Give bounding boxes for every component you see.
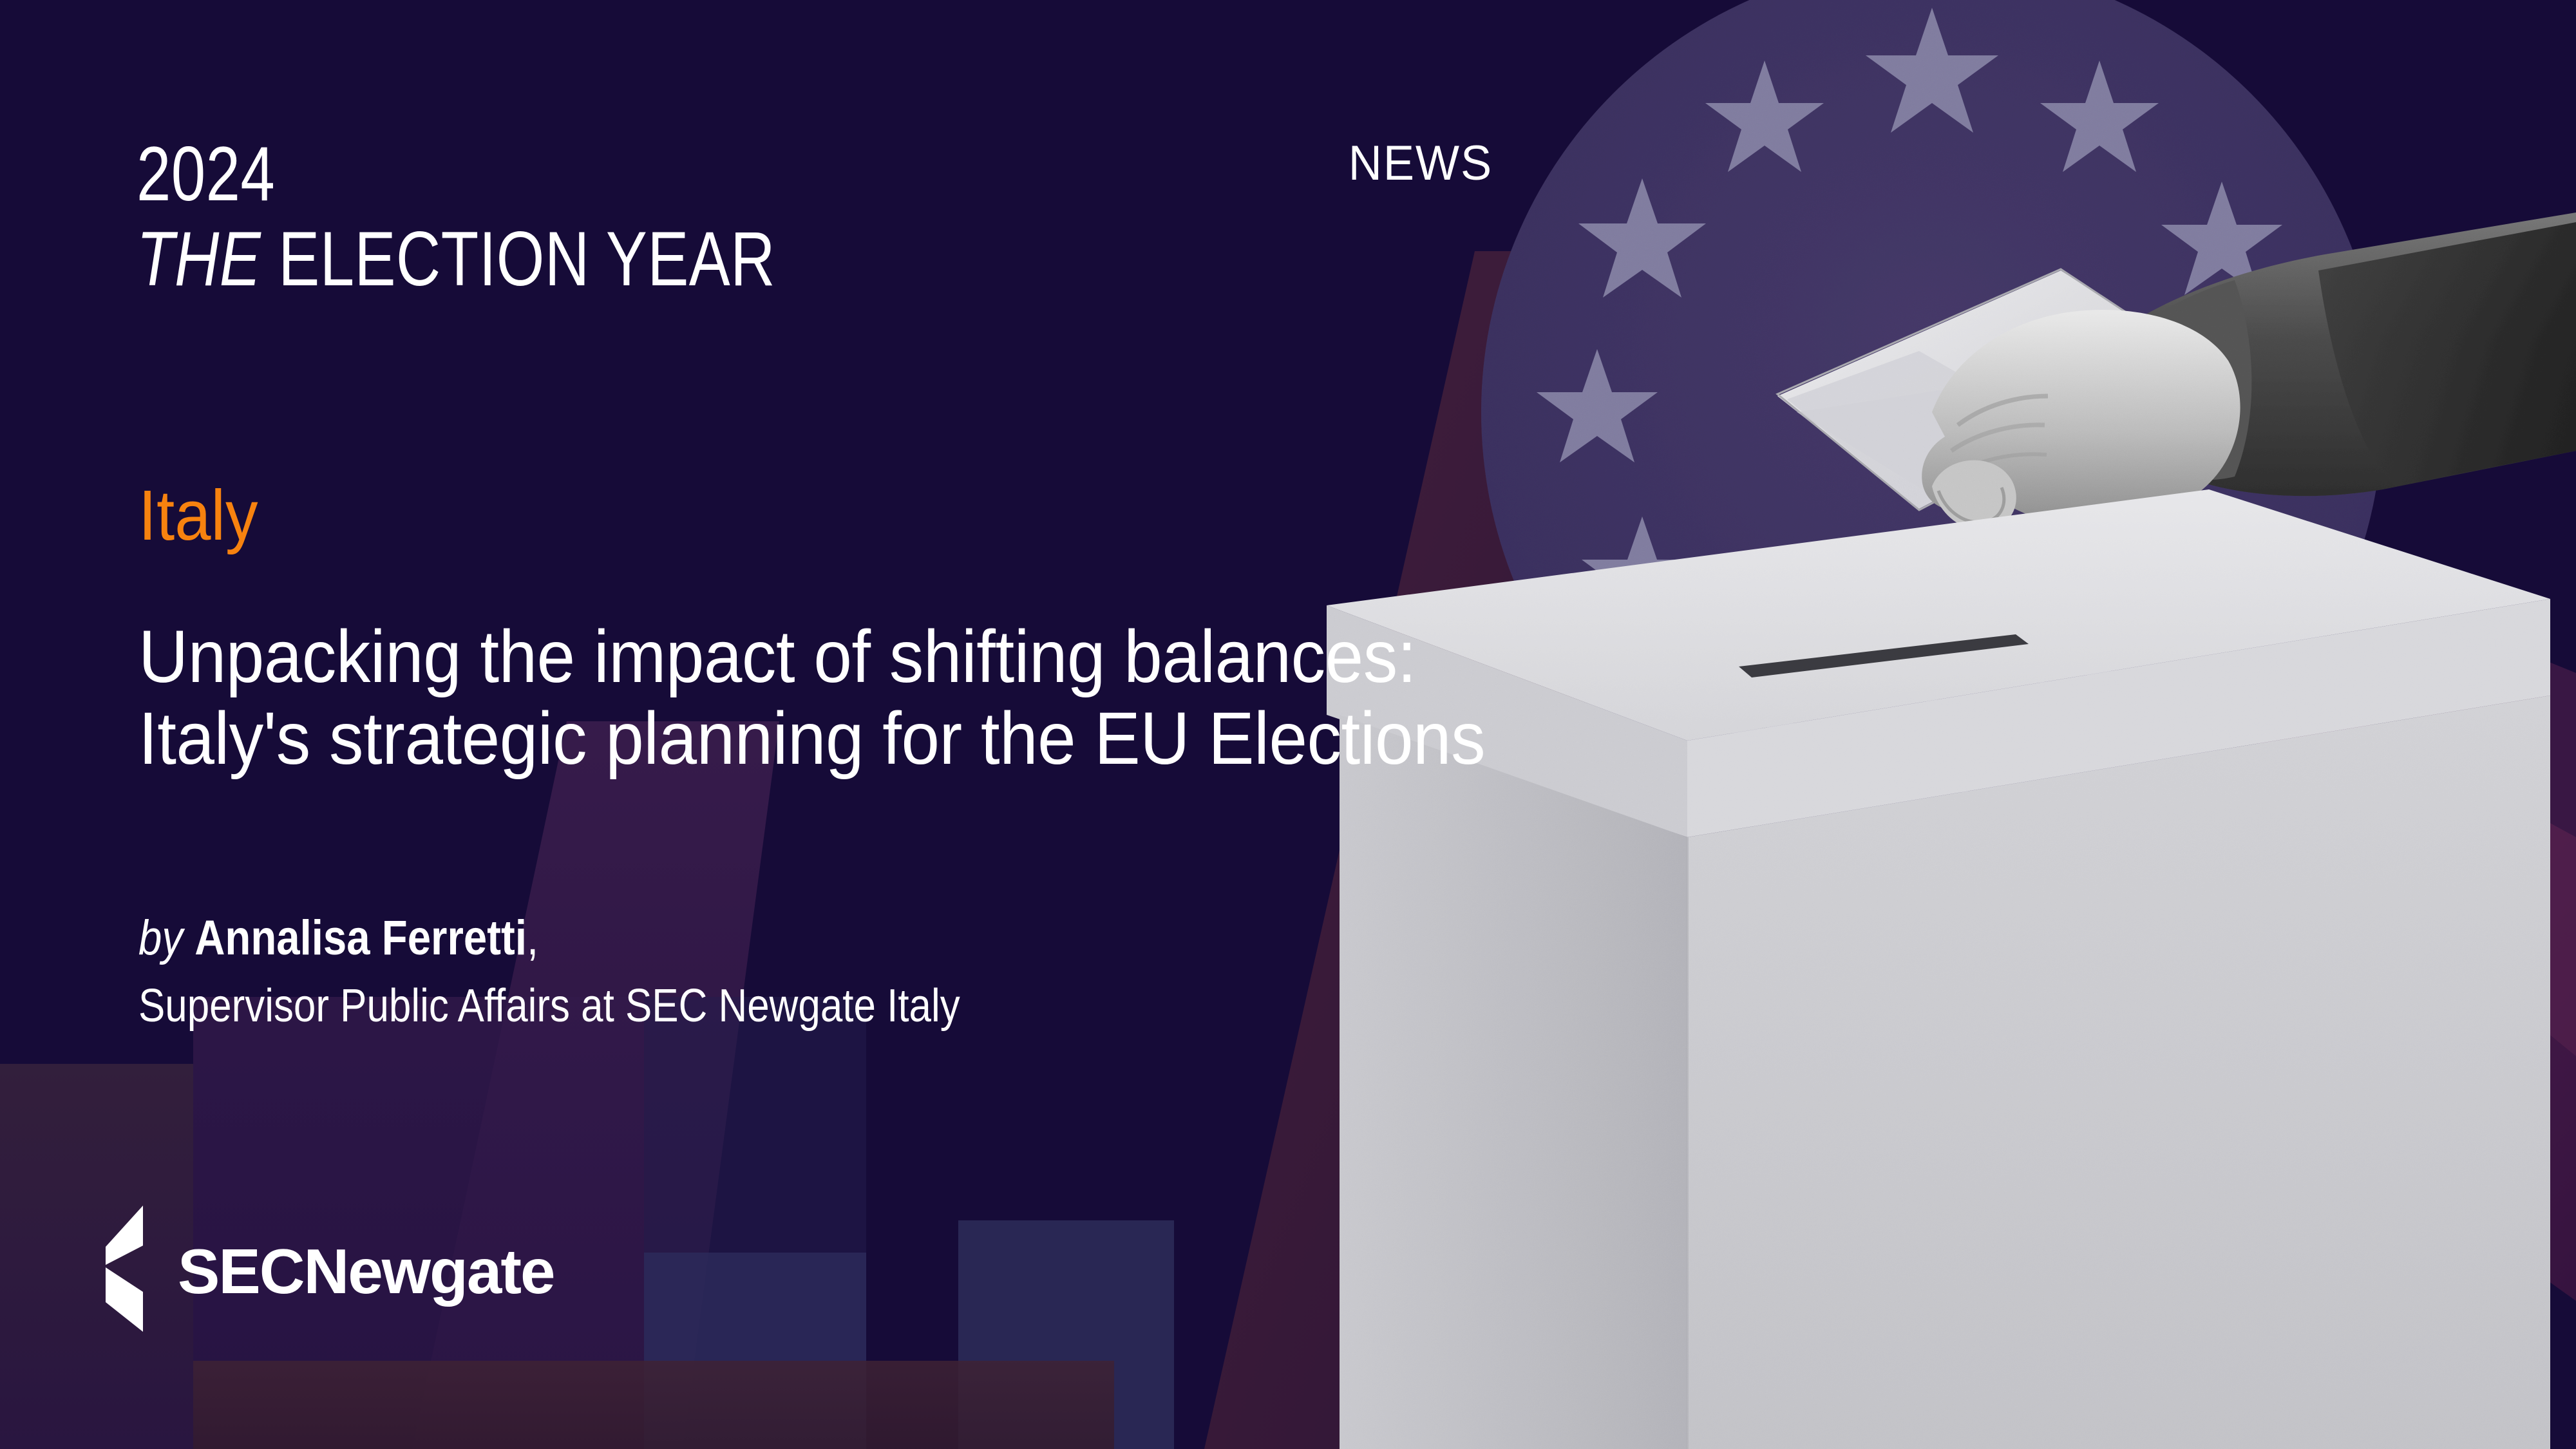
byline-author: Annalisa Ferretti <box>194 911 527 965</box>
secnewgate-chevron-icon <box>103 1206 162 1332</box>
text-content: 2024 THE ELECTION YEAR NEWS Italy Unpack… <box>0 0 1610 1449</box>
kicker-year: 2024 <box>137 137 775 213</box>
byline: by Annalisa Ferretti, Supervisor Public … <box>138 909 1684 1034</box>
byline-comma: , <box>527 911 538 965</box>
secnewgate-wordmark: SECNewgate <box>178 1240 554 1303</box>
byline-prefix: by <box>138 911 183 965</box>
kicker-the: THE <box>137 216 261 302</box>
page-title: Unpacking the impact of shifting balance… <box>138 616 1588 779</box>
kicker-rest: ELECTION YEAR <box>261 216 775 302</box>
banner-kicker: 2024 THE ELECTION YEAR <box>137 137 935 297</box>
category-badge: NEWS <box>1349 135 1493 191</box>
article-banner: 2024 THE ELECTION YEAR NEWS Italy Unpack… <box>0 0 2576 1449</box>
country-label: Italy <box>138 480 258 551</box>
secnewgate-logo[interactable]: SECNewgate <box>103 1206 554 1332</box>
byline-author-line: by Annalisa Ferretti, <box>138 909 1468 967</box>
byline-role: Supervisor Public Affairs at SEC Newgate… <box>138 979 1468 1034</box>
kicker-election-year: THE ELECTION YEAR <box>137 222 775 298</box>
